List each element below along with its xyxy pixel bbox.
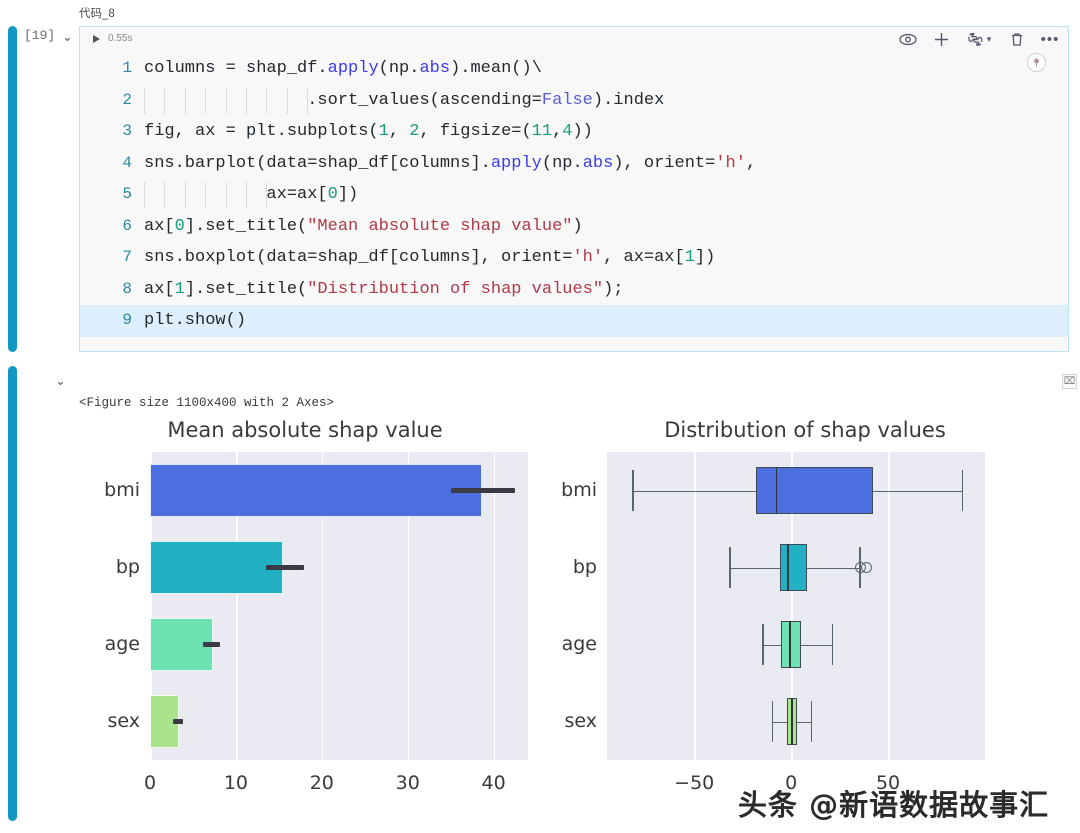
error-bar xyxy=(173,719,183,724)
whisker-cap xyxy=(729,547,731,587)
code-token: ), orient= xyxy=(613,154,715,173)
code-token: ax[ xyxy=(144,280,175,299)
whisker-line xyxy=(772,722,788,723)
whisker-line xyxy=(762,645,781,646)
bar-chart-axes xyxy=(150,452,528,760)
code-token: 0 xyxy=(175,217,185,236)
code-line-number: 6 xyxy=(80,211,132,243)
cell-toolbar: ▾ ••• xyxy=(898,29,1060,49)
ytick-label: bmi xyxy=(521,479,597,501)
code-token: , ax=ax[ xyxy=(603,248,685,267)
code-line-number: 4 xyxy=(80,148,132,180)
ytick-label: bp xyxy=(521,556,597,578)
code-token: columns = shap_df. xyxy=(144,59,328,78)
code-line-number: 9 xyxy=(80,305,132,337)
whisker-line xyxy=(807,568,859,569)
code-token: 1 xyxy=(685,248,695,267)
code-token: , xyxy=(389,122,409,141)
whisker-line xyxy=(729,568,779,569)
code-line[interactable]: 9plt.show() xyxy=(80,305,1068,337)
code-token: 'h' xyxy=(572,248,603,267)
code-token: )) xyxy=(572,122,592,141)
code-line-number: 3 xyxy=(80,116,132,148)
python-add-icon[interactable]: ▾ xyxy=(964,29,994,49)
code-token: fig, ax = plt.subplots( xyxy=(144,122,379,141)
code-token: 4 xyxy=(562,122,572,141)
ytick-label: sex xyxy=(521,710,597,732)
plus-icon[interactable] xyxy=(931,29,951,49)
code-line-number: 5 xyxy=(80,179,132,211)
xtick-label: 10 xyxy=(206,772,266,794)
whisker-cap xyxy=(772,701,774,741)
code-line[interactable]: 4sns.barplot(data=shap_df[columns].apply… xyxy=(80,148,1068,180)
ytick-label: age xyxy=(521,633,597,655)
whisker-line xyxy=(632,491,756,492)
code-token: .sort_values(ascending= xyxy=(144,91,542,110)
whisker-cap xyxy=(832,624,834,664)
xtick-label: 20 xyxy=(292,772,352,794)
ytick-label: age xyxy=(64,633,140,655)
code-token: , xyxy=(746,154,756,173)
code-line[interactable]: 8ax[1].set_title("Distribution of shap v… xyxy=(80,274,1068,306)
output-cell-active-rail xyxy=(8,366,17,821)
box xyxy=(781,621,800,669)
xtick-label: −50 xyxy=(654,772,734,794)
box xyxy=(780,544,807,592)
code-line[interactable]: 5 ax=ax[0]) xyxy=(80,179,1068,211)
code-token: ].set_title( xyxy=(185,217,307,236)
box xyxy=(756,467,872,515)
chevron-down-icon[interactable]: ▾ xyxy=(987,34,992,45)
code-token: ]) xyxy=(338,185,358,204)
execution-time: 0.55s xyxy=(108,33,132,44)
code-token: plt.show() xyxy=(144,311,246,330)
code-token: "Mean absolute shap value" xyxy=(307,217,572,236)
notebook-page: [19] ⌄ ⌄ 代码_8 0.55s ▾ xyxy=(0,0,1080,833)
error-bar xyxy=(203,642,220,647)
whisker-cap xyxy=(811,701,813,741)
box-chart-title: Distribution of shap values xyxy=(560,418,1050,442)
code-token: sns.barplot(data=shap_df[columns]. xyxy=(144,154,491,173)
trash-icon[interactable] xyxy=(1007,29,1027,49)
code-token: False xyxy=(542,91,593,110)
more-options-icon[interactable]: ••• xyxy=(1040,29,1060,49)
whisker-line xyxy=(801,645,832,646)
code-token: ).index xyxy=(593,91,664,110)
code-line[interactable]: 7sns.boxplot(data=shap_df[columns], orie… xyxy=(80,242,1068,274)
code-token: 1 xyxy=(379,122,389,141)
code-line[interactable]: 2 .sort_values(ascending=False).index xyxy=(80,85,1068,117)
bar xyxy=(150,541,283,595)
code-token: abs xyxy=(583,154,614,173)
code-collapse-chevron-icon[interactable]: ⌄ xyxy=(62,30,73,43)
bar xyxy=(150,464,482,518)
bar-chart-title: Mean absolute shap value xyxy=(60,418,550,442)
code-token: abs xyxy=(419,59,450,78)
code-token: apply xyxy=(328,59,379,78)
xtick-label: 30 xyxy=(378,772,438,794)
code-cell-active-rail xyxy=(8,26,17,352)
close-output-icon[interactable]: ⌧ xyxy=(1062,374,1077,389)
code-token: ).mean()\ xyxy=(450,59,542,78)
code-cell-header: 0.55s ▾ ••• xyxy=(80,27,1068,53)
whisker-line xyxy=(873,491,962,492)
code-token: apply xyxy=(491,154,542,173)
code-token: 'h' xyxy=(715,154,746,173)
gridline xyxy=(694,452,696,760)
error-bar xyxy=(451,488,515,493)
ytick-label: bmi xyxy=(64,479,140,501)
whisker-line xyxy=(797,722,811,723)
subplot-bar: Mean absolute shap value bmibpagesex 010… xyxy=(60,412,550,812)
code-token: "Distribution of shap values" xyxy=(307,280,603,299)
eye-icon[interactable] xyxy=(898,29,918,49)
cell-name-label: 代码_8 xyxy=(79,5,115,21)
run-cell-icon[interactable] xyxy=(93,35,100,43)
matplotlib-figure: Mean absolute shap value bmibpagesex 010… xyxy=(60,412,1060,812)
gridline xyxy=(494,452,496,760)
code-line[interactable]: 6ax[0].set_title("Mean absolute shap val… xyxy=(80,211,1068,243)
watermark: 头条 @新语数据故事汇 xyxy=(738,782,1049,824)
xtick-label: 0 xyxy=(120,772,180,794)
code-token: 11 xyxy=(532,122,552,141)
whisker-cap xyxy=(962,470,964,510)
code-token: ); xyxy=(603,280,623,299)
xtick-label: 40 xyxy=(464,772,524,794)
error-bar xyxy=(266,565,304,570)
code-line[interactable]: 3fig, ax = plt.subplots(1, 2, figsize=(1… xyxy=(80,116,1068,148)
code-token: , xyxy=(552,122,562,141)
code-token: ) xyxy=(572,217,582,236)
code-line[interactable]: 1columns = shap_df.apply(np.abs).mean()\ xyxy=(80,53,1068,85)
code-line-number: 7 xyxy=(80,242,132,274)
median-line xyxy=(791,698,793,746)
code-editor[interactable]: 1columns = shap_df.apply(np.abs).mean()\… xyxy=(80,53,1068,351)
execution-count: [19] xyxy=(24,28,55,43)
code-token: , figsize=( xyxy=(419,122,531,141)
box-chart-axes xyxy=(607,452,985,760)
ytick-label: sex xyxy=(64,710,140,732)
code-token: sns.boxplot(data=shap_df[columns], orien… xyxy=(144,248,572,267)
code-token: ]) xyxy=(695,248,715,267)
code-token: ].set_title( xyxy=(185,280,307,299)
whisker-cap xyxy=(762,624,764,664)
code-token: 0 xyxy=(328,185,338,204)
whisker-cap xyxy=(632,470,634,510)
code-cell[interactable]: 0.55s ▾ ••• xyxy=(79,26,1069,352)
output-collapse-chevron-icon[interactable]: ⌄ xyxy=(55,374,66,387)
code-token: ax=ax[ xyxy=(144,185,328,204)
code-token: (np. xyxy=(379,59,420,78)
figure-repr-text: <Figure size 1100x400 with 2 Axes> xyxy=(79,396,334,410)
median-line xyxy=(789,621,791,669)
code-line-number: 1 xyxy=(80,53,132,85)
code-token: 1 xyxy=(175,280,185,299)
code-line-number: 2 xyxy=(80,85,132,117)
gridline xyxy=(888,452,890,760)
median-line xyxy=(787,544,789,592)
code-token: (np. xyxy=(542,154,583,173)
ytick-label: bp xyxy=(64,556,140,578)
code-token: 2 xyxy=(409,122,419,141)
code-line-number: 8 xyxy=(80,274,132,306)
median-line xyxy=(776,467,778,515)
code-token: ax[ xyxy=(144,217,175,236)
subplot-box: Distribution of shap values bmibpagesex … xyxy=(560,412,1050,812)
outlier-point xyxy=(861,562,872,573)
